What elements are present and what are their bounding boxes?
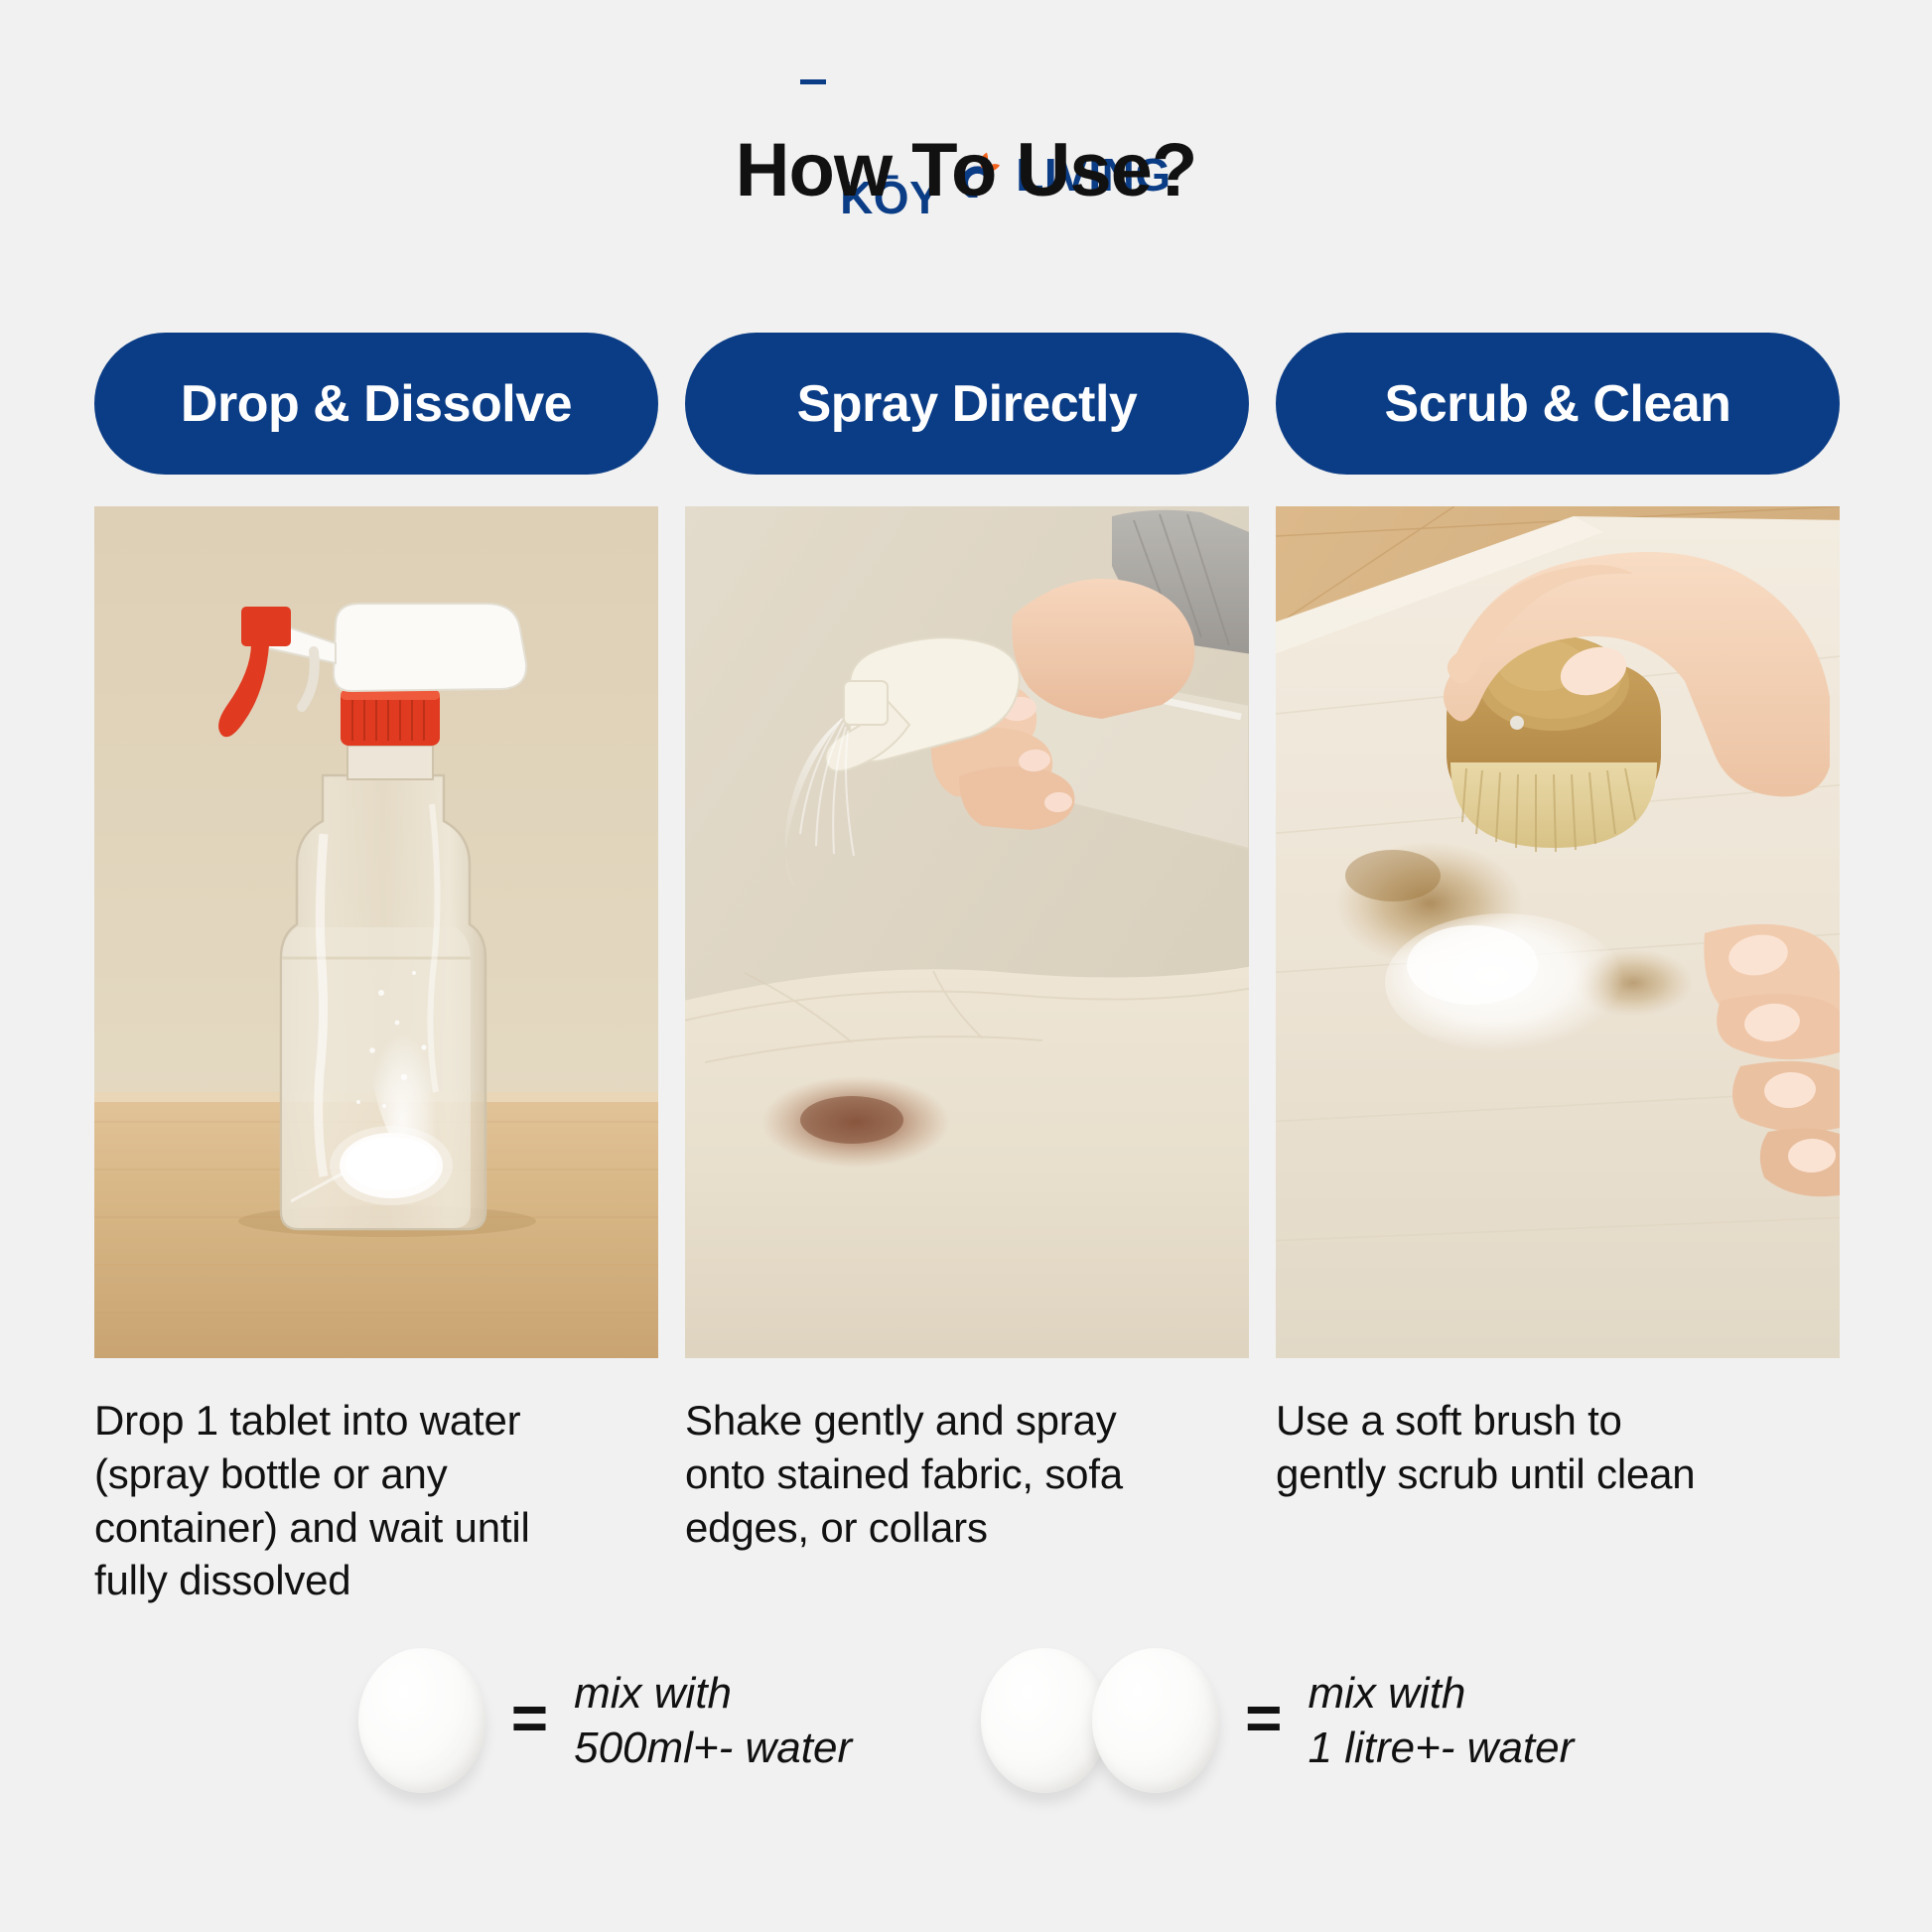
step-pill-scrub-clean[interactable]: Scrub & Clean (1276, 333, 1840, 475)
step-caption: Use a soft brush to gently scrub until c… (1276, 1394, 1840, 1501)
step-caption: Shake gently and spray onto stained fabr… (685, 1394, 1249, 1554)
hand-scrubbing-fabric-with-brush-photo (1276, 506, 1840, 1358)
step-pill-drop-dissolve[interactable]: Drop & Dissolve (94, 333, 658, 475)
dosage-text: mix with 500ml+- water (574, 1666, 852, 1775)
step-pill-label: Scrub & Clean (1385, 374, 1731, 434)
spray-bottle-with-dissolving-tablet-photo (94, 506, 658, 1358)
tablet-group-single (358, 1648, 485, 1793)
step-pill-label: Spray Directly (797, 374, 1138, 434)
step-pill-label: Drop & Dissolve (181, 374, 572, 434)
dosage-guide: = mix with 500ml+- water = mix with 1 li… (0, 1648, 1932, 1793)
hand-spraying-stained-fabric-photo (685, 506, 1249, 1358)
step-pill-spray-directly[interactable]: Spray Directly (685, 333, 1249, 475)
page-title: How To Use? (0, 127, 1932, 213)
tablet-icon (981, 1648, 1108, 1793)
step-column-3: Scrub & Clean (1276, 333, 1840, 1607)
tablet-group-double (981, 1648, 1219, 1793)
tablet-icon (358, 1648, 485, 1793)
equals-sign: = (511, 1686, 548, 1755)
equals-sign: = (1245, 1686, 1282, 1755)
step-caption: Drop 1 tablet into water (spray bottle o… (94, 1394, 658, 1607)
step-column-1: Drop & Dissolve (94, 333, 658, 1607)
dosage-row-500ml: = mix with 500ml+- water (358, 1648, 852, 1793)
dosage-text: mix with 1 litre+- water (1309, 1666, 1575, 1775)
steps-grid: Drop & Dissolve (94, 333, 1839, 1607)
tablet-icon (1092, 1648, 1219, 1793)
macron-over-o (800, 79, 826, 84)
dosage-row-1litre: = mix with 1 litre+- water (981, 1648, 1574, 1793)
step-column-2: Spray Directly (685, 333, 1249, 1607)
